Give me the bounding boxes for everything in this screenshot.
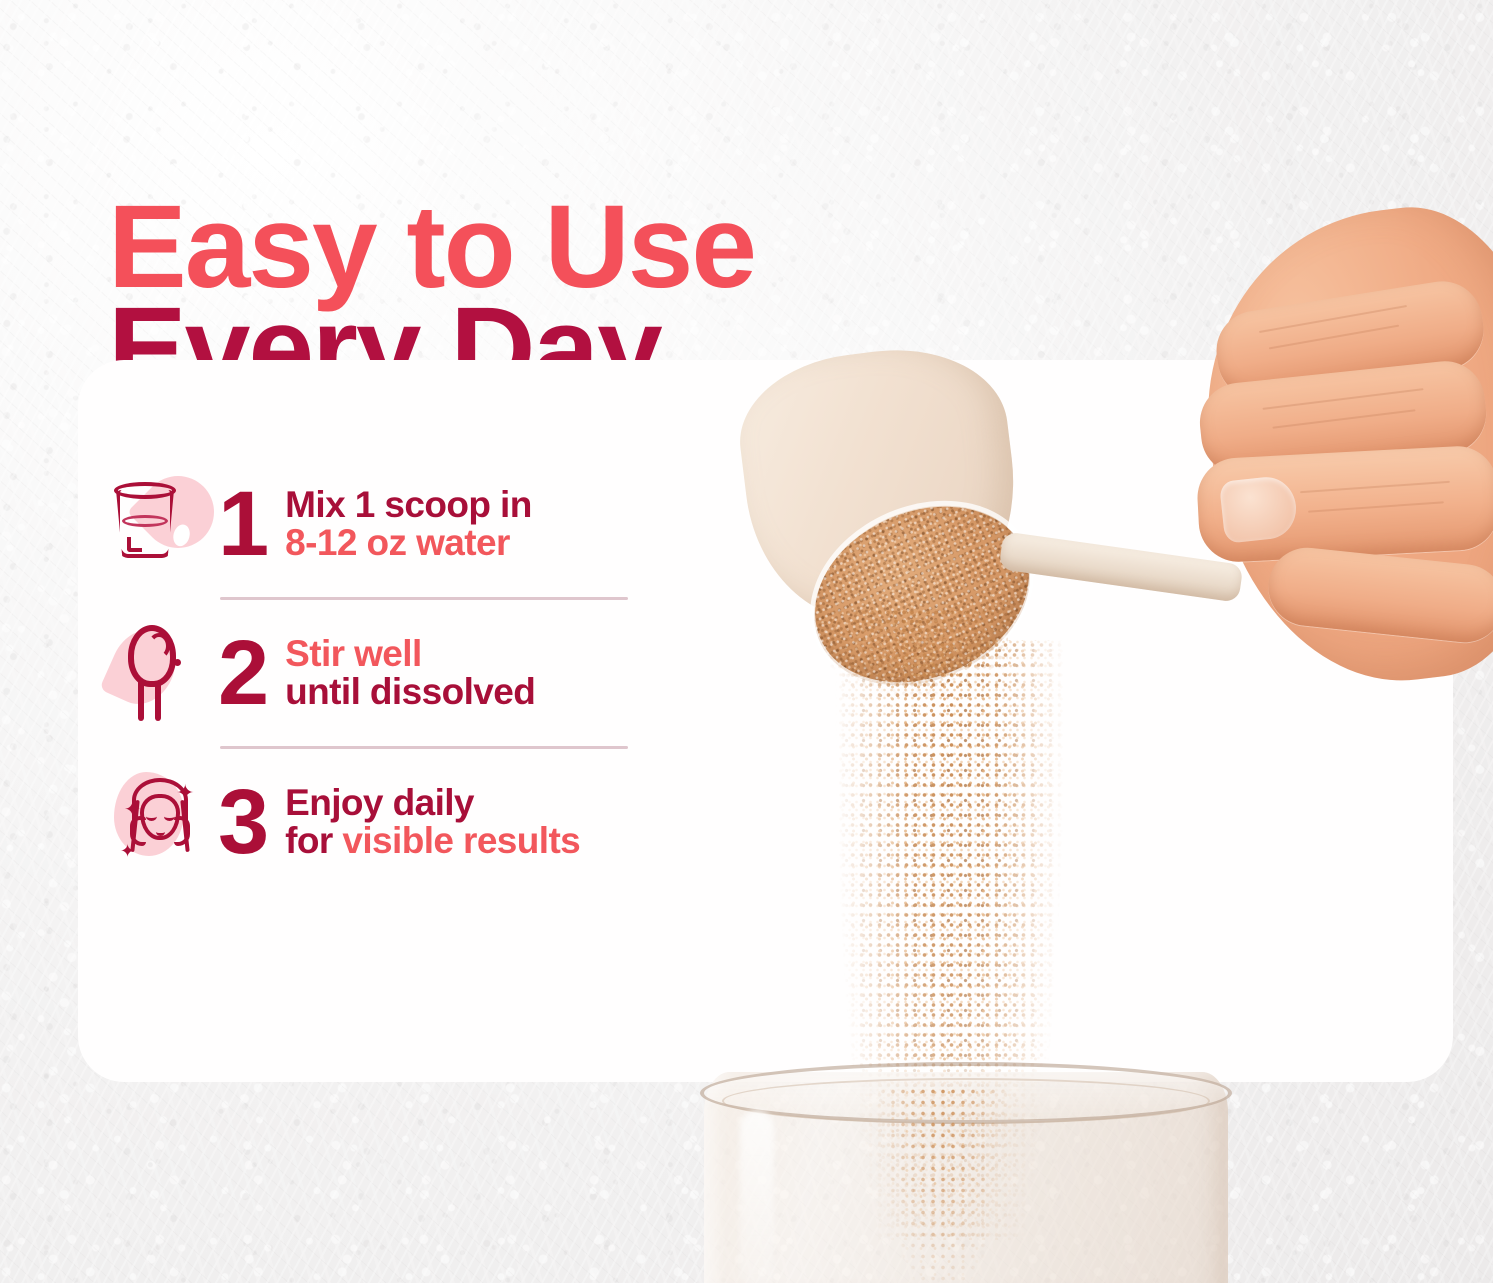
step-3-line-1: Enjoy daily — [285, 784, 580, 822]
step-1-line-1: Mix 1 scoop in — [285, 486, 532, 524]
step-item-2: 2 Stir well until dissolved — [108, 614, 668, 732]
step-3-line-2-prefix: for — [285, 820, 342, 861]
stirring-spoon-icon — [108, 617, 218, 729]
glass-rim-ellipse — [114, 482, 176, 499]
spoon-handle-right — [155, 681, 161, 721]
glass-outline — [114, 482, 176, 562]
step-item-1: 1 Mix 1 scoop in 8-12 oz water — [108, 465, 668, 583]
spoon-outline — [124, 625, 186, 721]
infographic-root: Easy to Use Every Day — [0, 0, 1493, 1283]
step-3-line-2-emphasis: visible results — [342, 820, 580, 861]
step-text-1: Mix 1 scoop in 8-12 oz water — [285, 486, 532, 563]
spoon-highlight-arc — [148, 633, 170, 659]
sparkle-icon: ✦ — [176, 782, 194, 804]
spoon-handle-left — [138, 681, 144, 721]
sparkle-icon: ✦ — [120, 842, 135, 860]
step-divider-1 — [220, 597, 628, 600]
step-2-line-2: until dissolved — [285, 673, 535, 711]
glowing-face-icon: ✦ ✦ ✦ — [108, 766, 218, 878]
face-eye-left — [146, 812, 157, 821]
glass-water-line — [122, 515, 168, 527]
water-glass-icon — [108, 468, 218, 580]
sparkle-icon: ✦ — [124, 800, 141, 820]
glass-measure-tick — [127, 537, 142, 552]
steps-list: 1 Mix 1 scoop in 8-12 oz water 2 — [108, 465, 668, 881]
step-item-3: ✦ ✦ ✦ 3 Enjoy daily for visible results — [108, 763, 668, 881]
step-2-line-1: Stir well — [285, 635, 535, 673]
step-3-line-2: for visible results — [285, 822, 580, 860]
face-mouth — [156, 828, 165, 836]
spoon-highlight-dot — [174, 659, 181, 666]
step-1-line-2: 8-12 oz water — [285, 524, 532, 562]
step-number-2: 2 — [218, 632, 267, 715]
step-divider-2 — [220, 746, 628, 749]
step-text-3: Enjoy daily for visible results — [285, 784, 580, 861]
step-text-2: Stir well until dissolved — [285, 635, 535, 712]
step-number-3: 3 — [218, 781, 267, 864]
step-number-1: 1 — [218, 483, 267, 566]
face-outline: ✦ ✦ ✦ — [118, 772, 202, 868]
